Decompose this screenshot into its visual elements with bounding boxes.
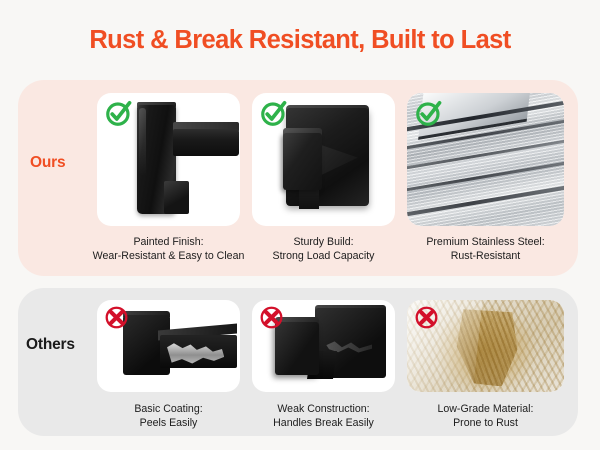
caption-line-1: Sturdy Build: [293, 236, 353, 248]
ours-caption-painted-finish: Painted Finish: Wear-Resistant & Easy to… [85, 235, 252, 263]
others-label: Others [26, 336, 75, 354]
others-card-low-grade-material [407, 300, 564, 392]
others-caption-basic-coating: Basic Coating: Peels Easily [85, 402, 252, 430]
cross-badge-icon [103, 304, 130, 331]
check-badge-icon [259, 98, 289, 128]
caption-line-1: Basic Coating: [134, 403, 202, 415]
caption-line-1: Painted Finish: [133, 236, 203, 248]
comparison-infographic: Rust & Break Resistant, Built to Last Ou… [0, 0, 600, 450]
ours-caption-sturdy-build: Sturdy Build: Strong Load Capacity [240, 235, 407, 263]
caption-line-2: Rust-Resistant [398, 249, 573, 263]
page-title: Rust & Break Resistant, Built to Last [0, 26, 600, 55]
ours-card-painted-finish [97, 93, 240, 226]
ours-caption-stainless-steel: Premium Stainless Steel: Rust-Resistant [398, 235, 573, 263]
others-card-weak-construction [252, 300, 395, 392]
others-caption-low-grade-material: Low-Grade Material: Prone to Rust [398, 402, 573, 430]
caption-line-2: Prone to Rust [398, 416, 573, 430]
check-badge-icon [414, 98, 444, 128]
caption-line-2: Handles Break Easily [240, 416, 407, 430]
check-badge-icon [104, 98, 134, 128]
caption-line-1: Weak Construction: [277, 403, 369, 415]
cross-badge-icon [413, 304, 440, 331]
ours-card-sturdy-build [252, 93, 395, 226]
caption-line-1: Low-Grade Material: [438, 403, 534, 415]
caption-line-2: Strong Load Capacity [240, 249, 407, 263]
ours-card-stainless-steel [407, 93, 564, 226]
caption-line-1: Premium Stainless Steel: [426, 236, 544, 248]
cross-badge-icon [258, 304, 285, 331]
caption-line-2: Wear-Resistant & Easy to Clean [85, 249, 252, 263]
others-caption-weak-construction: Weak Construction: Handles Break Easily [240, 402, 407, 430]
caption-line-2: Peels Easily [85, 416, 252, 430]
ours-label: Ours [30, 154, 65, 172]
others-card-basic-coating [97, 300, 240, 392]
